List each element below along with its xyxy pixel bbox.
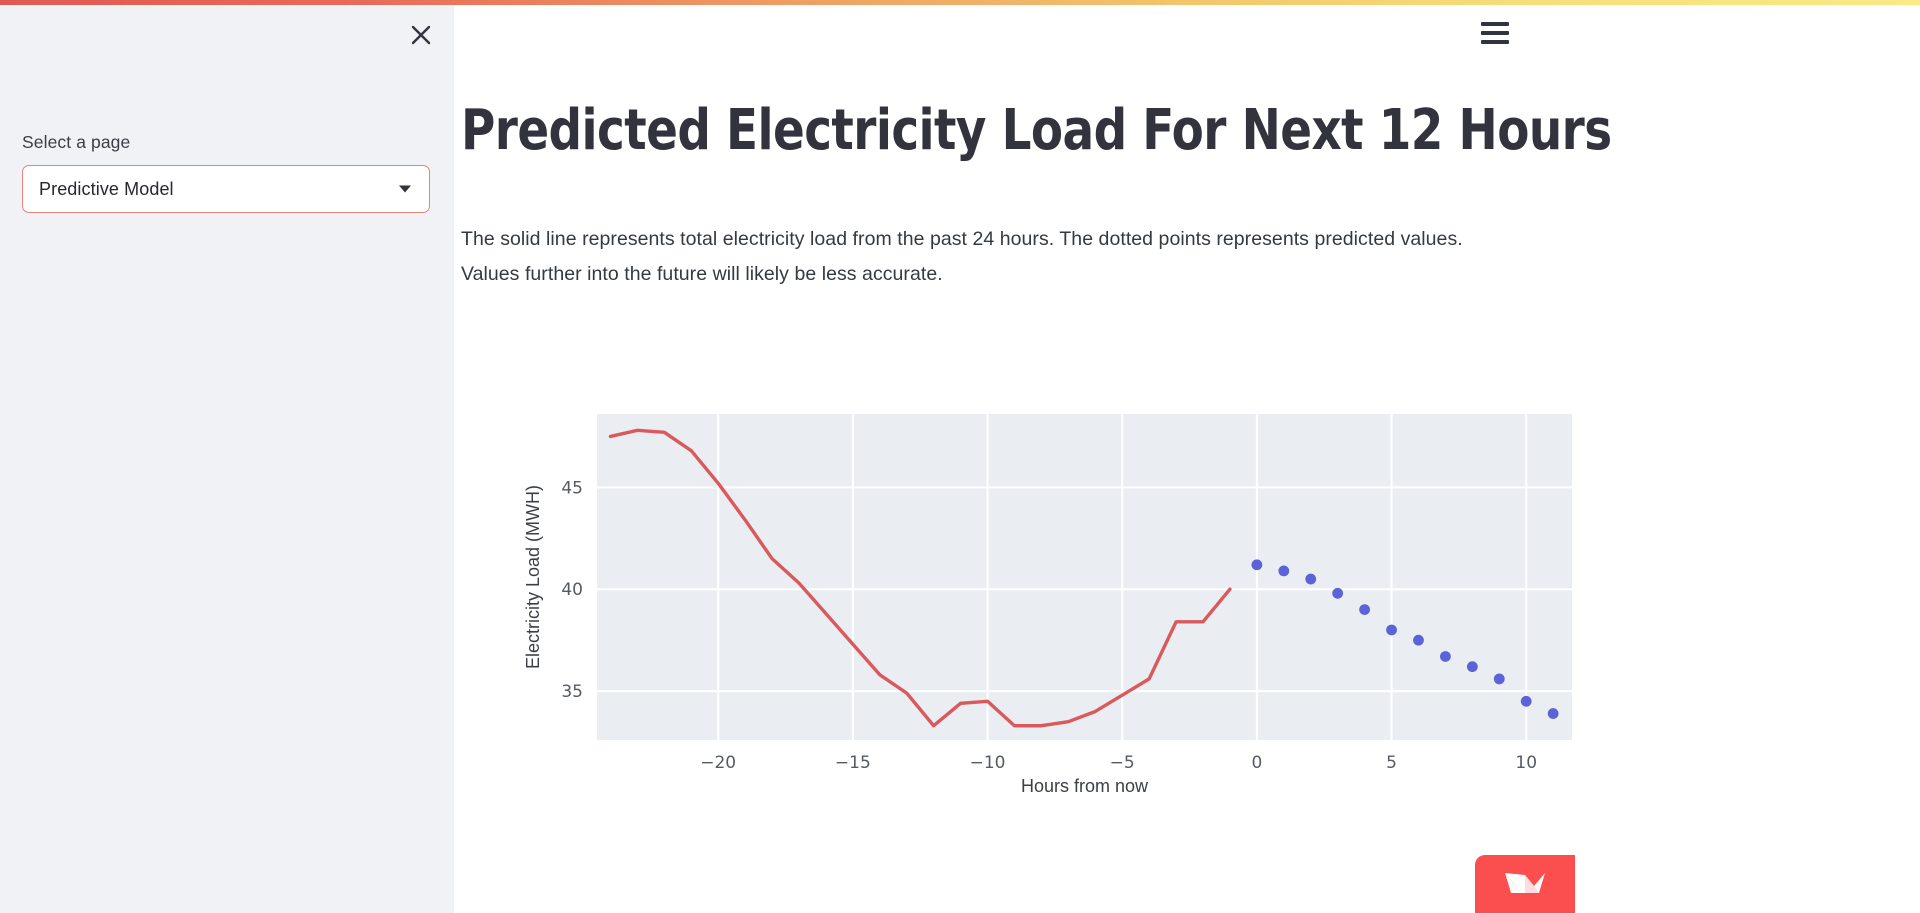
x-axis-tick-label: 0 [1251,753,1262,773]
chevron-down-icon [399,186,411,193]
y-axis-title: Electricity Load (MWH) [523,485,543,669]
main-content: Predicted Electricity Load For Next 12 H… [454,0,1920,913]
select-page-label: Select a page [22,132,432,153]
series-point-predicted [1305,574,1316,585]
top-gradient-bar [0,0,1920,5]
y-axis-tick-label: 35 [561,682,583,702]
x-axis-tick-label: −10 [970,753,1006,773]
page-title: Predicted Electricity Load For Next 12 H… [461,98,1670,163]
y-axis-tick-label: 45 [561,478,583,498]
x-axis-tick-label: −5 [1110,753,1135,773]
sidebar-content: Select a page Predictive Model [22,132,432,213]
hamburger-bar [1481,22,1509,26]
electricity-load-chart: 354045−20−15−10−50510Hours from nowElect… [484,408,1584,798]
select-page-value: Predictive Model [23,179,174,200]
origami-crown-icon[interactable] [1475,855,1575,913]
x-axis-tick-label: 10 [1515,753,1537,773]
series-point-predicted [1521,696,1532,707]
series-point-predicted [1413,635,1424,646]
x-axis-tick-label: −20 [700,753,736,773]
series-point-predicted [1251,559,1262,570]
hamburger-bar [1481,31,1509,35]
hamburger-menu-icon[interactable] [1481,22,1509,44]
series-point-predicted [1386,625,1397,636]
x-axis-tick-label: 5 [1386,753,1397,773]
sidebar: Select a page Predictive Model [0,0,454,913]
x-axis-title: Hours from now [1021,776,1149,796]
series-point-predicted [1278,565,1289,576]
hamburger-bar [1481,40,1509,44]
streamlit-app: Select a page Predictive Model Predicted… [0,0,1920,913]
x-axis-tick-label: −15 [835,753,871,773]
series-point-predicted [1332,588,1343,599]
chart-svg: 354045−20−15−10−50510Hours from nowElect… [484,408,1584,798]
series-point-predicted [1494,673,1505,684]
series-point-predicted [1467,661,1478,672]
series-point-predicted [1548,708,1559,719]
series-point-predicted [1359,604,1370,615]
select-page-dropdown[interactable]: Predictive Model [22,165,430,213]
series-point-predicted [1440,651,1451,662]
y-axis-tick-label: 40 [561,580,583,600]
close-icon[interactable] [404,18,438,52]
page-description: The solid line represents total electric… [461,222,1491,292]
